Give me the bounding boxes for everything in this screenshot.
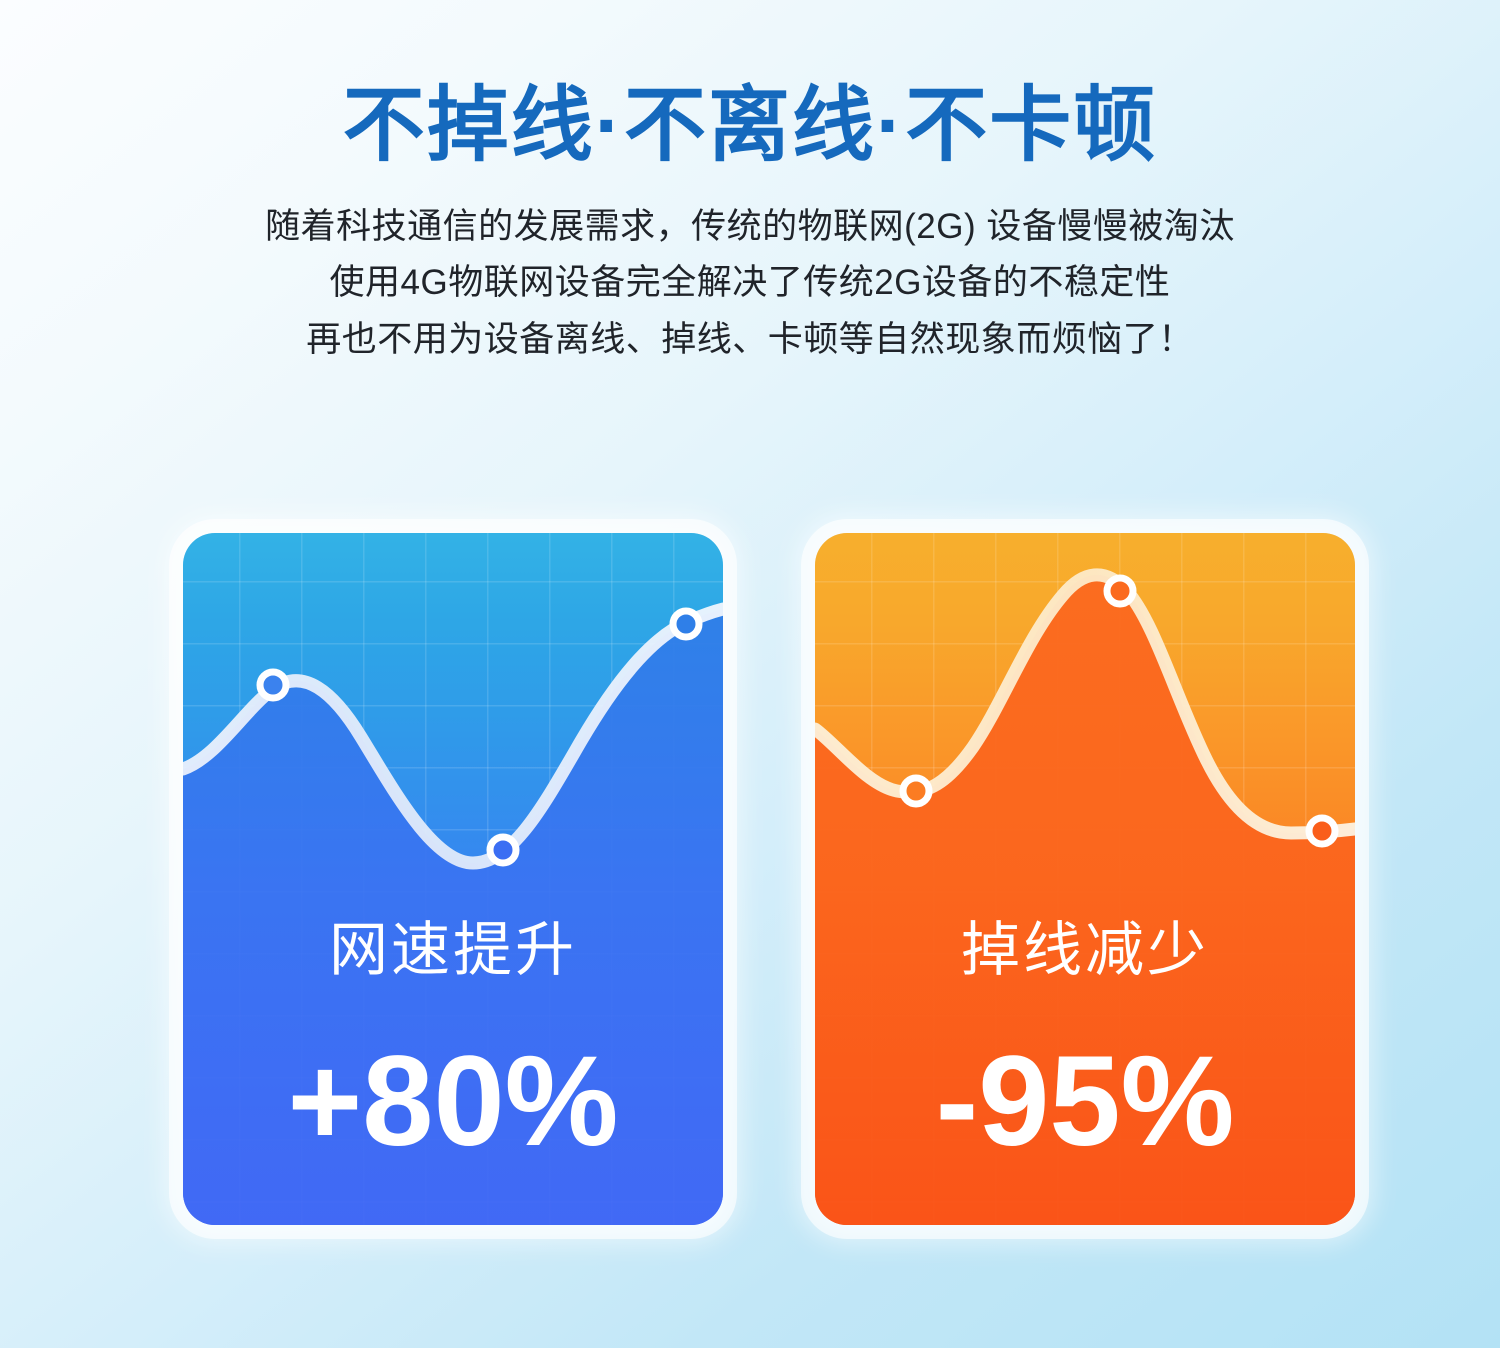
chart-marker-speed-3 — [673, 611, 699, 637]
header: 不掉线·不离线·不卡顿 随着科技通信的发展需求，传统的物联网(2G) 设备慢慢被… — [0, 0, 1500, 369]
chart-marker-speed-1 — [260, 672, 286, 698]
area-chart-dropout — [815, 533, 1355, 1225]
subtitle-line-3: 再也不用为设备离线、掉线、卡顿等自然现象而烦恼了！ — [0, 312, 1500, 369]
chart-marker-dropout-1 — [903, 778, 929, 804]
stat-card-dropout[interactable]: 掉线减少 -95% — [815, 533, 1355, 1225]
chart-marker-dropout-3 — [1309, 818, 1335, 844]
stat-card-group: 网速提升 +80% — [0, 533, 1500, 1233]
promo-page: 不掉线·不离线·不卡顿 随着科技通信的发展需求，传统的物联网(2G) 设备慢慢被… — [0, 0, 1500, 1348]
stat-card-speed[interactable]: 网速提升 +80% — [183, 533, 723, 1225]
subtitle-line-2: 使用4G物联网设备完全解决了传统2G设备的不稳定性 — [0, 255, 1500, 312]
chart-marker-speed-2 — [490, 837, 516, 863]
page-title: 不掉线·不离线·不卡顿 — [0, 0, 1500, 171]
area-chart-speed — [183, 533, 723, 1225]
chart-marker-dropout-2 — [1107, 578, 1133, 604]
area-fill-dropout — [815, 575, 1355, 1225]
subtitle-block: 随着科技通信的发展需求，传统的物联网(2G) 设备慢慢被淘汰 使用4G物联网设备… — [0, 171, 1500, 369]
subtitle-line-1: 随着科技通信的发展需求，传统的物联网(2G) 设备慢慢被淘汰 — [0, 199, 1500, 256]
